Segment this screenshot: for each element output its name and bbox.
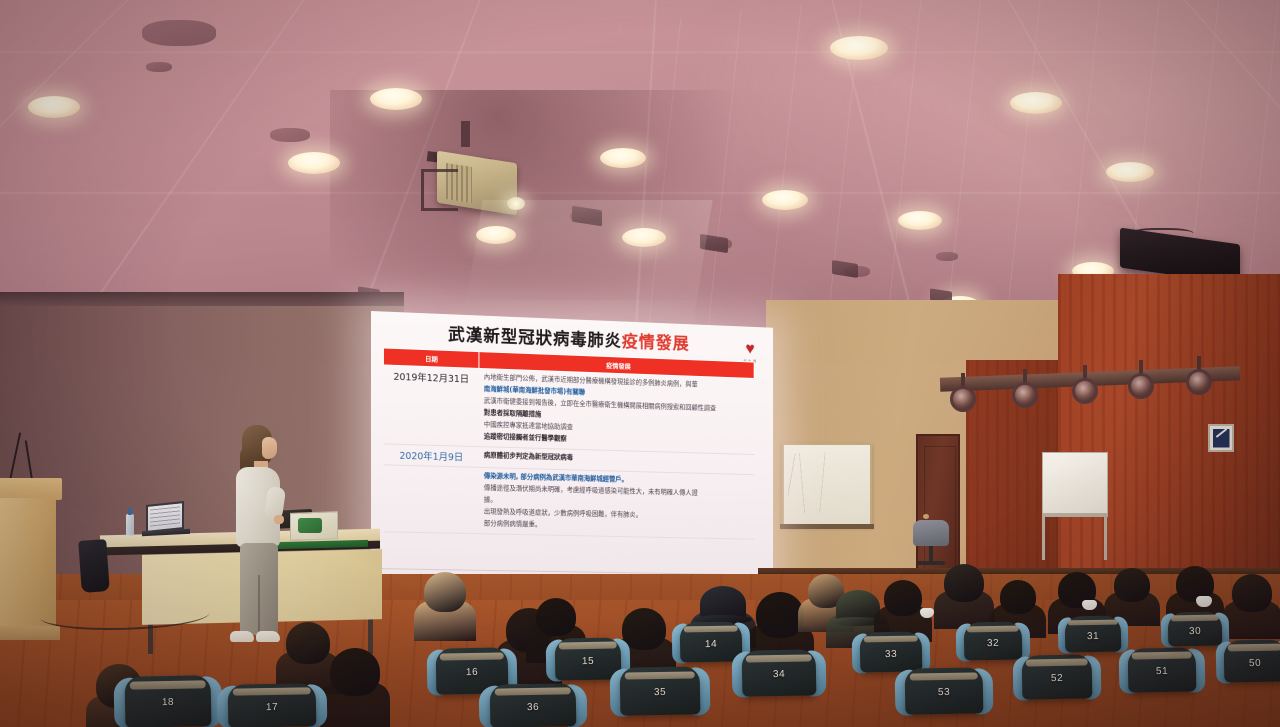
audience-face-mask: [1196, 596, 1212, 607]
door-knob-icon[interactable]: [923, 514, 929, 519]
audience-head: [756, 592, 804, 638]
seat-number: 51: [1128, 666, 1196, 678]
mobile-whiteboard: [1038, 452, 1108, 562]
water-bottle: [126, 508, 134, 536]
spotlight-arm: [961, 373, 965, 387]
stage-spotlight: [1186, 369, 1212, 395]
ceiling-downlight: [600, 148, 646, 168]
timeline-row: 2019年12月31日內地衛生部門公佈，武漢市近期部分醫療機構發現接診的多例肺炎…: [383, 365, 754, 455]
seat-number: 33: [860, 648, 922, 660]
seat-headrest: [909, 672, 978, 681]
presenter-leg-split: [258, 575, 260, 633]
epidemic-timeline-table: 日期 疫情發展 2019年12月31日內地衛生部門公佈，武漢市近期部分醫療機構發…: [383, 347, 755, 539]
whiteboard-pen-tray: [780, 524, 874, 529]
audience-seat[interactable]: 33: [860, 631, 923, 672]
wall-whiteboard: [782, 443, 872, 526]
presenter: [222, 425, 292, 650]
seat-number: 15: [555, 655, 621, 667]
wall-notice-sign: [1208, 424, 1234, 452]
stage-spotlight: [1012, 382, 1038, 408]
projector-mount-pole: [461, 121, 470, 147]
timeline-events: 傳染源未明, 部分病例為武漢市華南海鮮城經營戶。傳播途徑及潛伏期尚未明確，考慮經…: [479, 467, 754, 539]
backpack: [78, 539, 110, 593]
seat-number: 32: [964, 637, 1022, 649]
timeline-date: [383, 465, 479, 534]
audience-head: [424, 572, 466, 612]
audience-seat[interactable]: 51: [1128, 647, 1197, 692]
audience-seat[interactable]: 50: [1224, 639, 1280, 682]
presenter-laptop[interactable]: [142, 503, 188, 535]
audience-seat[interactable]: 30: [1168, 612, 1223, 647]
audience-head: [944, 564, 984, 602]
seat-headrest: [130, 680, 206, 689]
audience-head: [884, 580, 922, 616]
timeline-date: 2020年1月9日: [383, 444, 479, 468]
ceiling-vent: [146, 62, 172, 72]
seat-number: 52: [1022, 673, 1092, 685]
timeline-date: 2019年12月31日: [383, 365, 479, 447]
office-chair-pole: [929, 546, 933, 562]
projector-bracket: [421, 169, 458, 211]
audience-seat[interactable]: 31: [1065, 616, 1122, 653]
bottle-cap: [128, 508, 132, 515]
audience-head: [536, 598, 576, 636]
audience-head: [1000, 580, 1036, 614]
ceiling-downlight: [830, 36, 888, 60]
spotlight-arm: [1083, 365, 1087, 379]
ceiling-downlight: [1010, 92, 1062, 114]
office-chair-seat: [913, 520, 949, 546]
presenter-shoe-right: [256, 631, 280, 642]
projection-screen: 武漢新型冠狀病毒肺炎疫情發展 ♥ 衛 生 署 日期 疫情發展 2019年12月3…: [371, 311, 773, 597]
left-wall-trim: [0, 292, 404, 306]
office-chair-base: [917, 561, 945, 565]
right-wall-wood-panel: [1058, 274, 1280, 614]
seat-headrest: [1171, 615, 1219, 621]
ceiling-downlight: [28, 96, 80, 118]
ceiling-downlight: [762, 190, 808, 210]
projector-lens-icon: [507, 197, 525, 210]
seat-headrest: [440, 652, 503, 660]
audience-seat[interactable]: 15: [555, 637, 622, 680]
audience-seat[interactable]: 34: [742, 649, 817, 696]
audience-seat[interactable]: 17: [228, 683, 317, 727]
audience-seat[interactable]: 36: [490, 683, 577, 727]
audience-head: [1114, 568, 1150, 602]
presenter-face: [262, 437, 277, 459]
stage-spotlight: [950, 386, 976, 412]
seat-headrest: [1227, 644, 1280, 652]
audience-seat[interactable]: 52: [1022, 654, 1093, 699]
audience-head: [286, 622, 330, 664]
seat-number: 16: [436, 667, 508, 679]
ceiling-vent: [270, 128, 310, 142]
lectern-base: [0, 626, 60, 640]
audience-face-mask: [1082, 600, 1097, 610]
audience-seat[interactable]: 14: [680, 621, 743, 662]
presenter-hand: [274, 515, 284, 524]
seat-number: 30: [1168, 626, 1222, 638]
seat-number: 53: [905, 687, 983, 699]
audience-head: [622, 608, 666, 650]
seat-number: 17: [228, 701, 316, 714]
ceiling-vent: [142, 20, 216, 46]
office-chair: [913, 520, 949, 568]
ceiling-downlight: [1106, 162, 1154, 182]
ceiling-downlight: [476, 226, 516, 244]
seat-number: 36: [490, 701, 576, 713]
ceiling-downlight: [622, 228, 666, 247]
audience-seat[interactable]: 35: [620, 666, 701, 715]
ceiling-downlight: [370, 88, 422, 110]
flipchart-board: [1042, 452, 1108, 514]
audience-cap: [700, 586, 746, 622]
audience-head: [1232, 574, 1272, 612]
ceiling-downlight: [898, 211, 942, 230]
stage-spotlight: [1128, 373, 1154, 399]
ceiling-vent: [936, 252, 958, 261]
ceiling-projector: [413, 143, 521, 215]
slide-title-accent: 疫情發展: [622, 332, 690, 354]
seat-number: 14: [680, 638, 742, 650]
lectern-top: [0, 478, 62, 500]
stage-spotlight: [1072, 378, 1098, 404]
timeline-row: 傳染源未明, 部分病例為武漢市華南海鮮城經營戶。傳播途徑及潛伏期尚未明確，考慮經…: [383, 465, 754, 539]
bottle-body: [126, 514, 134, 536]
seat-number: 31: [1065, 631, 1121, 643]
audience-seat[interactable]: 32: [964, 621, 1023, 660]
audience-head: [330, 648, 380, 696]
whiteboard-writing: [788, 453, 864, 513]
spotlight-arm: [1197, 356, 1201, 370]
seat-number: 34: [742, 669, 816, 681]
seat-number: 35: [620, 686, 700, 698]
audience-seat[interactable]: 18: [125, 675, 212, 727]
green-folder: [298, 518, 322, 533]
timeline-events: 內地衛生部門公佈，武漢市近期部分醫療機構發現接診的多例肺炎病例，與華南海鮮城(華…: [479, 368, 754, 454]
table-body: 2019年12月31日內地衛生部門公佈，武漢市近期部分醫療機構發現接診的多例肺炎…: [383, 365, 754, 539]
slide-title-main: 武漢新型冠狀病毒肺炎: [448, 325, 622, 352]
seat-number: 50: [1224, 657, 1280, 669]
seat-headrest: [559, 642, 617, 650]
timeline-event-line: 病原體初步判定為新型冠狀病毒: [484, 450, 750, 468]
spotlight-arm: [1023, 369, 1027, 383]
lecture-hall-photo: 武漢新型冠狀病毒肺炎疫情發展 ♥ 衛 生 署 日期 疫情發展 2019年12月3…: [0, 0, 1280, 727]
heart-icon: ♥: [734, 340, 765, 358]
spotlight-arm: [1139, 360, 1143, 374]
exit-sign-icon: [1213, 429, 1230, 448]
presenter-shoe-left: [230, 631, 254, 642]
flipchart-crossbar: [1042, 514, 1108, 517]
seat-headrest: [746, 654, 811, 662]
audience-seat[interactable]: 53: [905, 667, 984, 714]
laptop-screen-text: [150, 505, 180, 526]
seat-headrest: [967, 625, 1018, 632]
seat-number: 18: [125, 697, 211, 709]
ceiling-downlight: [288, 152, 340, 174]
